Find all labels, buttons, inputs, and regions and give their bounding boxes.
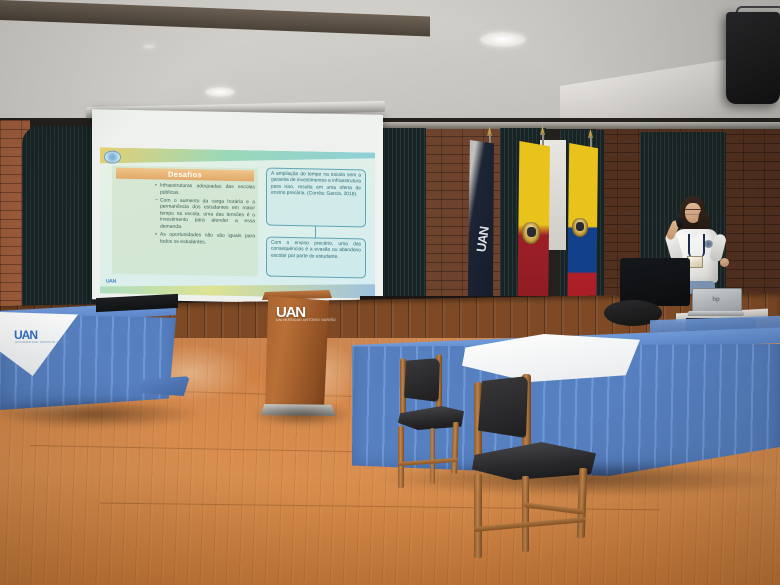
presentation-slide: UAN Desafios Infraestruturas adequadas d… [100,147,375,298]
chair-backrest [404,358,440,402]
chair-leg [451,422,459,474]
slide-title: Desafios [116,168,254,182]
lanyard [688,234,705,258]
ceiling-downlight [205,87,235,97]
chair-leg [398,426,404,488]
slide-box-connector [315,226,316,237]
podium-brand-sub: UNIVERSIDAD ANTONIO NARIÑO [276,318,336,322]
chair-leg [522,476,529,552]
left-table-runner-logo-sub: UNIVERSIDAD ANTONIO NARIÑO [15,340,70,344]
chair-leg [577,468,587,538]
slide-bullet-item: As oportunidades não são iguais para tod… [155,232,255,247]
chair-backrest [478,376,528,438]
laptop-keyboard-base [687,311,744,316]
slide-footer-logo: UAN [106,278,123,289]
slide-bullet-item: Infraestruturas adequadas das escolas pú… [155,182,255,197]
presenter-right-hand [720,258,729,267]
slide-bullet-list: Infraestruturas adequadas das escolas pú… [115,182,255,247]
curtain-left [22,126,94,314]
podium-floor-shadow [252,404,352,426]
chair-leg [430,428,435,484]
chair-right [466,356,616,556]
flag-bogota-crest-icon [522,222,540,244]
loudspeaker [726,12,780,104]
chair-stretcher [474,517,586,532]
slide-bullet-item: Com o aumento da carga horária e a perma… [155,197,255,232]
presentation-hall-photo: UAN Desafios Infraestruturas adequadas d… [0,0,780,585]
ceiling-downlight [142,44,156,49]
left-table-floor-shadow [0,400,200,428]
chair-leg [474,474,482,558]
stage-monitor [620,258,690,306]
chair-stretcher [398,458,458,466]
slide-callout-box: A ampliação do tempo na escola sem a gar… [266,168,366,228]
laptop-brand-logo: hp [711,297,721,304]
chair-seat [472,442,596,480]
chair-stretcher [524,502,584,514]
ceiling-beam [0,0,430,37]
projection-screen: UAN Desafios Infraestruturas adequadas d… [92,109,383,305]
ceiling-downlight [480,32,526,47]
chair-left [394,344,476,514]
slide-left-content-panel: Desafios Infraestruturas adequadas das e… [112,166,258,277]
slide-logo-icon [104,150,121,163]
slide-callout-box: Com o ensino precário, uma das consequên… [266,237,366,279]
flag-colombia-crest-icon [572,218,588,237]
